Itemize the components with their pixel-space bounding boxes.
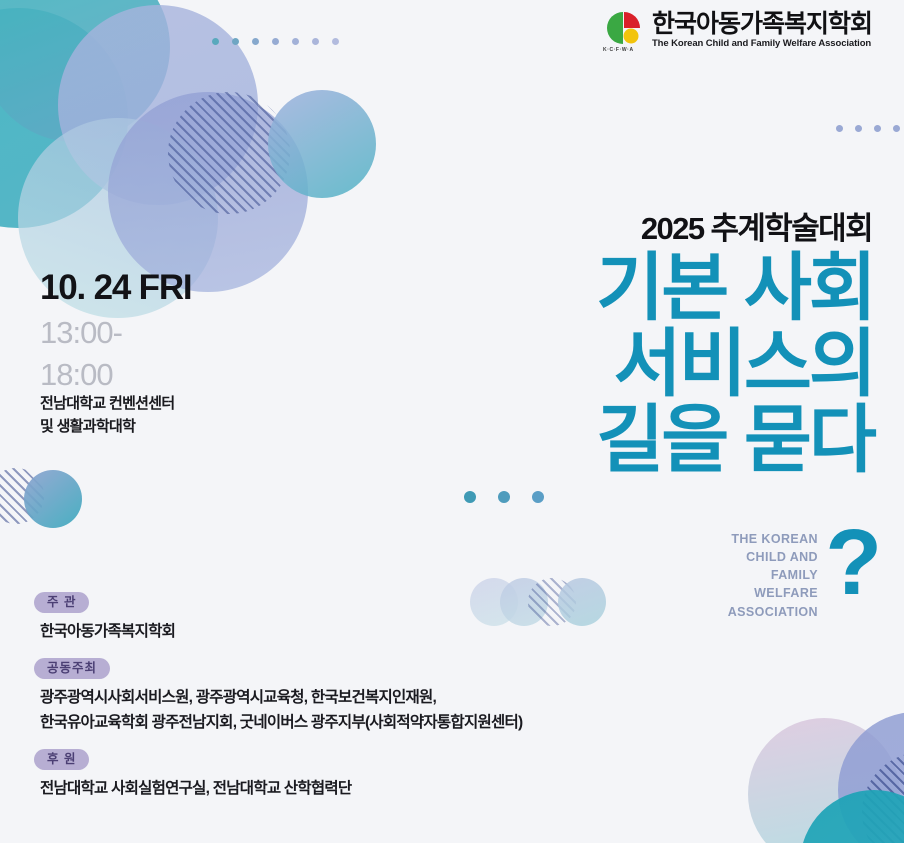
deco-circle-left-small xyxy=(24,470,82,528)
deco-circle-teal-large xyxy=(0,8,128,228)
logo-korean-name: 한국아동가족복지학회 xyxy=(652,11,872,37)
event-venue: 전남대학교 컨벤션센터 및 생활과학대학 xyxy=(40,392,174,439)
conference-poster: K·C·F·W·A 한국아동가족복지학회 The Korean Child an… xyxy=(0,0,904,843)
credit-group-cohost: 공동주최 광주광역시사회서비스원, 광주광역시교육청, 한국보건복지인재원, 한… xyxy=(34,658,674,735)
question-mark-icon: ? xyxy=(825,516,882,609)
association-english-block: THE KOREAN CHILD AND FAMILY WELFARE ASSO… xyxy=(728,530,818,621)
deco-dot-row-middle xyxy=(464,491,544,503)
host-badge: 주 관 xyxy=(34,592,89,613)
cohost-organizations: 광주광역시사회서비스원, 광주광역시교육청, 한국보건복지인재원, 한국유아교육… xyxy=(34,686,674,736)
sponsor-badge: 후 원 xyxy=(34,749,89,770)
credit-group-host: 주 관 한국아동가족복지학회 xyxy=(34,592,674,644)
cohost-badge: 공동주최 xyxy=(34,658,110,679)
kcfwa-logo-mark-icon: K·C·F·W·A xyxy=(605,10,643,50)
deco-circle-bottomright-pink xyxy=(748,718,900,843)
deco-dot-row-top xyxy=(212,38,339,45)
deco-striped-circle-top xyxy=(168,92,290,214)
event-kicker: 2025 추계학술대회 xyxy=(641,203,872,248)
deco-circle-bottomright-purple xyxy=(838,712,904,843)
deco-circle-teal-right-top xyxy=(268,90,376,198)
host-organizations: 한국아동가족복지학회 xyxy=(34,620,674,645)
deco-circle-bottomright-teal xyxy=(800,790,904,843)
logo-abbreviation: K·C·F·W·A xyxy=(603,47,634,53)
sponsor-organizations: 전남대학교 사회실험연구실, 전남대학교 산학협력단 xyxy=(34,777,674,802)
deco-striped-circle-bottomright xyxy=(862,752,904,843)
credit-group-sponsor: 후 원 전남대학교 사회실험연구실, 전남대학교 산학협력단 xyxy=(34,749,674,801)
deco-circle-periwinkle-top xyxy=(58,5,258,205)
deco-circle-teal-upper xyxy=(0,0,170,142)
event-date: 10. 24 FRI xyxy=(40,268,191,308)
event-title: 기본 사회 서비스의 길을 묻다 xyxy=(596,250,874,479)
deco-dot-row-right xyxy=(836,125,900,132)
credits-section: 주 관 한국아동가족복지학회 공동주최 광주광역시사회서비스원, 광주광역시교육… xyxy=(34,592,674,802)
deco-circle-indigo xyxy=(108,92,308,292)
event-time: 13:00- 18:00 xyxy=(40,312,122,396)
logo-english-name: The Korean Child and Family Welfare Asso… xyxy=(652,38,872,49)
association-logo: K·C·F·W·A 한국아동가족복지학회 The Korean Child an… xyxy=(605,10,872,50)
deco-striped-circle-left xyxy=(0,468,44,524)
